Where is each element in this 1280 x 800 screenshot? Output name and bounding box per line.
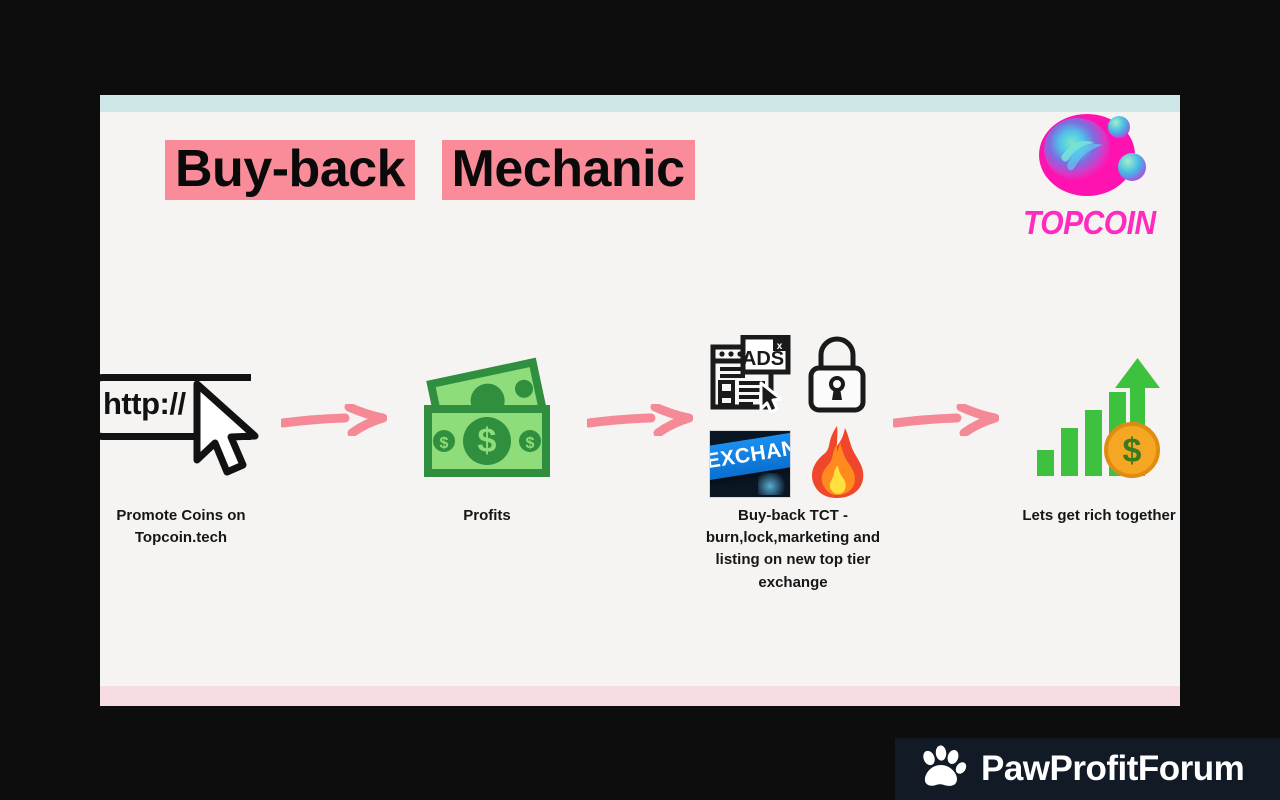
title-line-2: Mechanic	[442, 140, 695, 200]
padlock-icon	[804, 335, 870, 418]
ads-label: ADS	[741, 348, 783, 370]
flow-step-label: Promote Coins on Topcoin.tech	[100, 505, 281, 549]
buyback-flow: http:// Promote Coins on Topcoin.tech	[100, 345, 1180, 594]
exchange-label: EXCHANGE	[709, 431, 791, 475]
slide-top-band	[100, 95, 1180, 112]
url-address-bar-cursor-icon: http://	[100, 345, 281, 495]
ads-lock-exchange-fire-icons: x ADS	[706, 345, 881, 495]
svg-text:$: $	[478, 422, 497, 460]
topcoin-wordmark: TOPCOIN	[1023, 205, 1155, 243]
flow-step-growth: $ Lets get rich together	[999, 345, 1180, 527]
money-cash-bills-icon: $ $ $	[414, 345, 560, 495]
growth-chart-coin-icon: $	[1029, 345, 1169, 495]
svg-text:$: $	[1123, 432, 1142, 470]
flow-step-profits: $ $ $ Profits	[387, 345, 587, 527]
ads-popup-icon: x ADS	[709, 335, 791, 418]
flow-step-buyback: x ADS	[693, 345, 893, 594]
slide-bottom-band	[100, 686, 1180, 706]
flow-arrow-1	[281, 345, 387, 495]
flow-step-label: Profits	[387, 505, 587, 527]
url-text: http://	[103, 386, 186, 422]
topcoin-logo: TOPCOIN	[1023, 105, 1155, 255]
title-line-1: Buy-back	[165, 140, 415, 200]
mouse-cursor-icon	[189, 380, 267, 481]
presentation-slide: Buy-back Mechanic	[100, 95, 1180, 706]
exchange-sign-photo: EXCHANGE	[709, 430, 791, 498]
flow-arrow-3	[893, 345, 999, 495]
fire-icon	[804, 424, 870, 505]
paw-print-icon	[917, 745, 967, 794]
screenshot-root: Buy-back Mechanic	[0, 0, 1280, 800]
svg-text:$: $	[526, 435, 535, 452]
flow-arrow-2	[587, 345, 693, 495]
flow-step-label: Buy-back TCT - burn,lock,marketing and l…	[693, 505, 893, 594]
watermark-brand: PawProfitForum	[981, 749, 1244, 789]
svg-text:$: $	[440, 435, 449, 452]
flow-step-promote: http:// Promote Coins on Topcoin.tech	[100, 345, 281, 549]
flow-step-label: Lets get rich together	[999, 505, 1180, 527]
slide-title: Buy-back Mechanic	[165, 120, 695, 200]
watermark-bar: PawProfitForum	[895, 738, 1280, 800]
topcoin-planet-logo-icon	[1023, 105, 1155, 205]
